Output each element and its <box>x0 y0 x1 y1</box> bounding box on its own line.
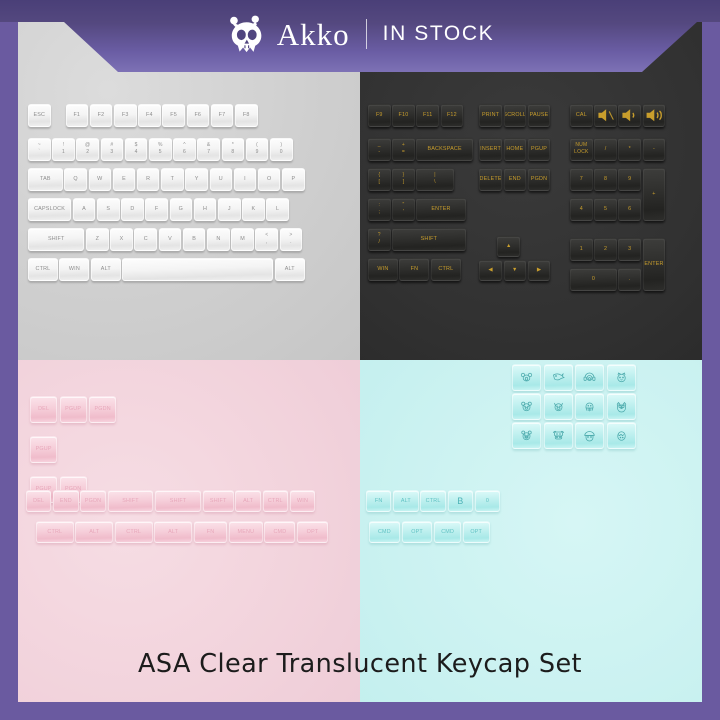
keycap-legend-bottom: 5 <box>159 150 162 156</box>
keycap-legend: END <box>60 498 72 504</box>
keycap-legend-top: > <box>289 233 292 239</box>
keycap-0: )0 <box>270 138 293 161</box>
keycap-legend: T <box>171 176 175 182</box>
keycap-legend: F9 <box>376 112 383 118</box>
keycap-legend: SHIFT <box>170 498 187 504</box>
keycap-blank: ▶ <box>528 260 551 281</box>
keycap-legend: PAUSE <box>530 112 549 118</box>
keycap-f7: F7 <box>211 104 234 127</box>
keycap-e: E <box>113 168 136 191</box>
keycap-shift: SHIFT <box>108 490 154 512</box>
keycap-esc: ESC <box>28 104 51 127</box>
keycap-pgdn: PGDN <box>80 490 105 512</box>
keycap-opt: OPT <box>402 521 433 543</box>
keycap-legend-top: ? <box>378 233 381 239</box>
keycap-koala-face-icon <box>512 364 541 391</box>
keycap-7: 7 <box>570 168 593 191</box>
keycap-legend: SCROLL <box>504 112 527 118</box>
keycap-legend: F3 <box>122 112 129 118</box>
keycap-pig-face-icon <box>544 393 573 420</box>
keycap-legend: END <box>509 176 521 182</box>
keycap-opt: OPT <box>463 521 490 543</box>
keycap-legend: SHIFT <box>421 236 438 242</box>
keycap-blank: ◀ <box>479 260 502 281</box>
keycap-legend: F2 <box>98 112 105 118</box>
keycap-legend: F10 <box>399 112 409 118</box>
keycap-legend: - <box>653 146 655 152</box>
keycap-f11: F11 <box>416 104 439 127</box>
keycap-f5: F5 <box>162 104 185 127</box>
keycap-legend: J <box>228 206 231 212</box>
keycap-legend: ESC <box>33 112 45 118</box>
keycap-legend: PGUP <box>65 406 81 412</box>
keycap-legend-bottom: 2 <box>86 150 89 156</box>
keycap-a: A <box>73 198 96 221</box>
keycap-del: DEL <box>26 490 51 512</box>
keycap-legend: V <box>168 236 172 242</box>
keycap-scroll: SCROLL <box>504 104 527 127</box>
keycap-legend: ENTER <box>431 206 450 212</box>
keycap-legend: CTRL <box>47 529 62 535</box>
keycap-legend: I <box>244 176 246 182</box>
keycap-owl-face-icon <box>607 393 636 420</box>
keycap-pgup: PGUP <box>528 138 551 161</box>
keycap-legend: ◀ <box>488 267 492 273</box>
keycap-legend-top: @ <box>85 143 90 149</box>
keycap-f6: F6 <box>187 104 210 127</box>
keycap-enter: ENTER <box>416 198 465 221</box>
keycap-win: WIN <box>59 258 89 281</box>
keycap-legend: DEL <box>33 498 44 504</box>
keycap-legend-top: " <box>402 203 404 209</box>
keycap-legend-bottom: = <box>402 150 405 156</box>
keycap-legend-top: ~ <box>38 143 41 149</box>
keycap-legend: ALT <box>285 266 295 272</box>
keycap-o: O <box>258 168 281 191</box>
keycap-legend: 2 <box>604 246 607 252</box>
keycap-opt: OPT <box>297 521 328 543</box>
keycap-delete: DELETE <box>479 168 502 191</box>
keycap-volume-mute-icon <box>594 104 617 127</box>
keycap-capslock: CAPSLOCK <box>28 198 71 221</box>
keycap-blank: . <box>618 268 641 291</box>
keycap-blank: {[ <box>368 168 391 191</box>
keycap-blank: - <box>643 138 666 161</box>
keycap-legend: ALT <box>401 498 411 504</box>
keycap-1: 1 <box>570 238 593 261</box>
keycap-legend: SHIFT <box>122 498 139 504</box>
keycap-shift: SHIFT <box>392 228 465 251</box>
keycap-n: N <box>207 228 230 251</box>
keycap-s: S <box>97 198 120 221</box>
keycap-b: B <box>448 490 473 512</box>
keycap-legend-top: % <box>158 143 163 149</box>
keycap-legend: PGDN <box>85 498 101 504</box>
keycap-legend: P <box>291 176 295 182</box>
keycap-cow-face-icon <box>544 422 573 449</box>
keycap-f: F <box>145 198 168 221</box>
keycap-legend: CMD <box>273 529 286 535</box>
keycap-6: 6 <box>618 198 641 221</box>
keycap-blank: _- <box>368 138 391 161</box>
keycap-legend: CTRL <box>268 498 283 504</box>
keycap-legend: PGUP <box>36 446 52 452</box>
keycap-blank: + <box>643 168 666 221</box>
keycap-legend: ENTER <box>644 261 663 267</box>
keycap-legend-top: & <box>207 143 211 149</box>
keycap-x: X <box>110 228 133 251</box>
keycap-legend: 3 <box>628 246 631 252</box>
keycap-blank: / <box>594 138 617 161</box>
keycap-r: R <box>137 168 160 191</box>
keycap-blank: >. <box>280 228 303 251</box>
keycap-alt: ALT <box>91 258 121 281</box>
keycap-legend: CTRL <box>426 498 441 504</box>
keycap-legend-top: ! <box>63 143 65 149</box>
keycap-legend: MENU <box>238 529 255 535</box>
keycap-fn: FN <box>366 490 391 512</box>
keycap-legend: DELETE <box>480 176 502 182</box>
keycap-b: B <box>183 228 206 251</box>
keycap-ctrl: CTRL <box>431 258 461 281</box>
keycap-legend: OPT <box>470 529 482 535</box>
keycap-bird-face-icon <box>544 364 573 391</box>
keycap-blank: ▼ <box>504 260 527 281</box>
keycap-legend-bottom: 1 <box>62 150 65 156</box>
frame-edge-top <box>0 0 720 18</box>
keycap-alt: ALT <box>235 490 260 512</box>
keycap-legend: Z <box>96 236 100 242</box>
keycap-cmd: CMD <box>264 521 295 543</box>
keycap-legend: X <box>120 236 124 242</box>
keycap-f9: F9 <box>368 104 391 127</box>
keycap-legend: 6 <box>628 206 631 212</box>
keycap-cat-face-icon <box>607 364 636 391</box>
keycap-blank: |\ <box>416 168 453 191</box>
keycap-legend: OPT <box>307 529 319 535</box>
keycap-legend: WIN <box>297 498 308 504</box>
keycap-legend: ALT <box>89 529 99 535</box>
keycap-5: %5 <box>149 138 172 161</box>
keycap-legend: SHIFT <box>48 236 65 242</box>
keycap-y: Y <box>185 168 208 191</box>
keycap-legend: G <box>179 206 183 212</box>
keycap-ctrl: CTRL <box>36 521 74 543</box>
keycap-legend: U <box>219 176 223 182</box>
keycap-legend: ▲ <box>506 243 512 249</box>
keycap-legend: Y <box>195 176 199 182</box>
keycap-legend: 1 <box>580 246 583 252</box>
keycap-legend-top: ^ <box>183 143 186 149</box>
keycap-legend: PGDN <box>94 406 110 412</box>
keycap-pig-nose-face-icon <box>512 422 541 449</box>
keycap-alt: ALT <box>393 490 418 512</box>
keycap-blank: ~` <box>28 138 51 161</box>
keycap-legend: C <box>144 236 148 242</box>
keycap-volume-up-icon <box>643 104 666 127</box>
keycap-legend: FN <box>375 498 383 504</box>
keycap-9: 9 <box>618 168 641 191</box>
keycap-legend: ALT <box>243 498 253 504</box>
keycap-legend-bottom: 8 <box>231 150 234 156</box>
keycap-del: DEL <box>30 396 57 423</box>
keycap-0: 0 <box>570 268 617 291</box>
keycap-legend: S <box>106 206 110 212</box>
keycap-legend-bottom: 4 <box>135 150 138 156</box>
keycap-legend-top: NUM <box>575 143 587 149</box>
keycap-alt: ALT <box>275 258 305 281</box>
keycap-legend: 4 <box>580 206 583 212</box>
keycap-legend: L <box>276 206 279 212</box>
keycap-legend: CMD <box>441 529 454 535</box>
keycap-legend: + <box>652 191 655 197</box>
keycap-win: WIN <box>290 490 315 512</box>
keycap-legend-bottom: , <box>266 240 268 246</box>
keycap-m: M <box>231 228 254 251</box>
keycap-legend: 8 <box>604 176 607 182</box>
keycap-legend-bottom: . <box>290 240 292 246</box>
keycap-2: 2 <box>594 238 617 261</box>
keycap-f4: F4 <box>138 104 161 127</box>
keycap-d: D <box>121 198 144 221</box>
keycap-legend: CTRL <box>126 529 141 535</box>
keycap-legend: PGDN <box>531 176 547 182</box>
keycap-legend: D <box>130 206 134 212</box>
keycap-legend: FN <box>207 529 215 535</box>
keycap-volume-down-icon <box>618 104 641 127</box>
keycap-pgup: PGUP <box>60 396 87 423</box>
keycap-legend: INSERT <box>480 146 501 152</box>
keycap-legend: O <box>267 176 271 182</box>
keycap-legend-top: < <box>265 233 268 239</box>
keycap-blank <box>122 258 273 281</box>
keycap-legend-top: * <box>232 143 234 149</box>
keycap-end: END <box>504 168 527 191</box>
keycap-legend: ▶ <box>537 267 541 273</box>
keycap-blank: * <box>618 138 641 161</box>
keycap-legend-bottom: 7 <box>207 150 210 156</box>
keycap-legend-top: _ <box>378 143 381 149</box>
keycap-legend: CAL <box>576 112 587 118</box>
keycap-legend: . <box>629 276 631 282</box>
keycap-legend-top: # <box>110 143 113 149</box>
keycap-legend: ALT <box>168 529 178 535</box>
keycap-legend-bottom: \ <box>434 180 436 186</box>
keycap-f8: F8 <box>235 104 258 127</box>
keycap-legend: R <box>146 176 150 182</box>
keycap-l: L <box>266 198 289 221</box>
keycap-backspace: BACKSPACE <box>416 138 472 161</box>
keycap-legend: N <box>216 236 220 242</box>
keycap-u: U <box>210 168 233 191</box>
keycap-legend: M <box>240 236 245 242</box>
keycap-3: #3 <box>101 138 124 161</box>
keycap-cmd: CMD <box>434 521 461 543</box>
keycap-legend-bottom: ] <box>403 180 405 186</box>
keycap-blank: ▲ <box>497 236 520 257</box>
keycap-blank: :; <box>368 198 391 221</box>
keycap-alt: ALT <box>75 521 113 543</box>
frame-edge-right <box>702 0 720 720</box>
keycap-legend: WIN <box>377 266 388 272</box>
keycap-legend-bottom: 3 <box>110 150 113 156</box>
keycap-legend-bottom: ` <box>38 150 40 156</box>
keycap-7: &7 <box>197 138 220 161</box>
keycap-legend: 7 <box>580 176 583 182</box>
keycap-legend: DEL <box>38 406 49 412</box>
keycap-legend: 5 <box>604 206 607 212</box>
keycap-blank: }] <box>392 168 415 191</box>
keycap-w: W <box>89 168 112 191</box>
keycap-legend: TAB <box>40 176 51 182</box>
keycap-p: P <box>282 168 305 191</box>
keycap-ctrl: CTRL <box>28 258 58 281</box>
keycap-legend-bottom: 6 <box>183 150 186 156</box>
keycap-legend: SHIFT <box>210 498 227 504</box>
keycap-shift: SHIFT <box>203 490 234 512</box>
keycap-legend: Q <box>73 176 77 182</box>
keycap-legend: WIN <box>69 266 80 272</box>
keycap-legend: * <box>629 146 631 152</box>
keycap-legend-bottom: ; <box>379 210 381 216</box>
keycap-bear-face-icon <box>512 393 541 420</box>
keycap-legend: PGUP <box>531 146 547 152</box>
keycap-2: @2 <box>76 138 99 161</box>
keycap-1: !1 <box>52 138 75 161</box>
keycap-legend: F11 <box>423 112 433 118</box>
keycap-blank: ?/ <box>368 228 391 251</box>
keycap-legend: A <box>82 206 86 212</box>
keycap-cmd: CMD <box>369 521 400 543</box>
keycap-legend: CAPSLOCK <box>34 206 65 212</box>
keycap-mushroom-face-icon <box>575 422 604 449</box>
keycap-fn: FN <box>194 521 228 543</box>
keycap-legend-bottom: / <box>379 240 381 246</box>
keycap-legend: CMD <box>378 529 391 535</box>
keycap-5: 5 <box>594 198 617 221</box>
keycap-legend: PRINT <box>482 112 499 118</box>
keycap-legend-top: } <box>403 173 405 179</box>
keycap-legend-bottom: 0 <box>280 150 283 156</box>
keycap-4: $4 <box>125 138 148 161</box>
keycap-win: WIN <box>368 258 398 281</box>
keycap-print: PRINT <box>479 104 502 127</box>
keycap-h: H <box>194 198 217 221</box>
keycap-blank: <, <box>255 228 278 251</box>
keycap-home: HOME <box>504 138 527 161</box>
cyan-keycaps-panel: FNALTCTRLB0CMDOPTCMDOPT <box>360 360 720 720</box>
keycap-6: ^6 <box>173 138 196 161</box>
keycap-koala-headphones-icon <box>575 364 604 391</box>
keycap-legend: 0 <box>486 498 489 504</box>
keycap-legend-bottom: [ <box>379 180 381 186</box>
keycap-legend: B <box>192 236 196 242</box>
keycap-legend-top: { <box>378 173 380 179</box>
keycap-v: V <box>159 228 182 251</box>
keycap-f2: F2 <box>90 104 113 127</box>
pink-keycaps-panel: DELPGUPPGDNPGUPPGUPPGDNDELENDPGDNSHIFTSH… <box>0 360 360 720</box>
keycap-tab: TAB <box>28 168 63 191</box>
keycap-shift: SHIFT <box>155 490 201 512</box>
keycap-legend: B <box>457 496 463 506</box>
keycap-pgup: PGUP <box>30 436 57 463</box>
keycap-legend: F6 <box>194 112 201 118</box>
keycap-legend: / <box>605 146 607 152</box>
keycap-9: (9 <box>246 138 269 161</box>
keycap-legend-top: ) <box>280 143 282 149</box>
keycap-q: Q <box>64 168 87 191</box>
keycap-f10: F10 <box>392 104 415 127</box>
keycap-chick-hatching-icon <box>607 422 636 449</box>
keycap-legend: CTRL <box>35 266 50 272</box>
keycap-octopus-icon <box>575 393 604 420</box>
keycap-pgdn: PGDN <box>528 168 551 191</box>
product-image-canvas: ESCF1F2F3F4F5F6F7F8~`!1@2#3$4%5^6&7*8(9)… <box>0 0 720 720</box>
keycap-menu: MENU <box>229 521 263 543</box>
keycap-f1: F1 <box>66 104 89 127</box>
keycap-cal: CAL <box>570 104 593 127</box>
keycap-legend: H <box>203 206 207 212</box>
keycap-f12: F12 <box>441 104 464 127</box>
keycap-8: 8 <box>594 168 617 191</box>
keycap-legend-bottom: 9 <box>256 150 259 156</box>
keycap-legend: HOME <box>506 146 523 152</box>
keycap-0: 0 <box>475 490 500 512</box>
keycap-legend: 9 <box>628 176 631 182</box>
keycap-ctrl: CTRL <box>420 490 445 512</box>
white-keycaps-panel: ESCF1F2F3F4F5F6F7F8~`!1@2#3$4%5^6&7*8(9)… <box>0 0 360 360</box>
keycap-legend-top: + <box>402 143 405 149</box>
keycap-legend: F5 <box>170 112 177 118</box>
keycap-shift: SHIFT <box>28 228 84 251</box>
keycap-legend: W <box>97 176 102 182</box>
keycap-legend: ALT <box>101 266 111 272</box>
keycap-ctrl: CTRL <box>115 521 153 543</box>
keycap-end: END <box>53 490 78 512</box>
keycap-legend: BACKSPACE <box>427 146 461 152</box>
keycap-g: G <box>170 198 193 221</box>
keycap-ctrl: CTRL <box>263 490 288 512</box>
keycap-legend-top: : <box>379 203 381 209</box>
frame-edge-left <box>0 0 18 720</box>
keycap-pause: PAUSE <box>528 104 551 127</box>
keycap-i: I <box>234 168 257 191</box>
keycap-blank: += <box>392 138 415 161</box>
keycap-t: T <box>161 168 184 191</box>
keycap-num-lock: NUMLOCK <box>570 138 593 161</box>
keycap-4: 4 <box>570 198 593 221</box>
keycap-legend-bottom: - <box>378 150 380 156</box>
keycap-legend: ▼ <box>512 267 518 273</box>
keycap-f3: F3 <box>114 104 137 127</box>
black-keycaps-panel: F9F10F11F12PRINTSCROLLPAUSECAL_-+=BACKSP… <box>360 0 720 360</box>
keycap-fn: FN <box>399 258 429 281</box>
keycap-legend: CTRL <box>438 266 453 272</box>
keycap-legend: F8 <box>243 112 250 118</box>
keycap-8: *8 <box>222 138 245 161</box>
keycap-enter: ENTER <box>643 238 666 291</box>
keycap-legend-bottom: ' <box>403 210 404 216</box>
keycap-pgdn: PGDN <box>89 396 116 423</box>
keycap-legend-top: ( <box>256 143 258 149</box>
keycap-c: C <box>134 228 157 251</box>
keycap-legend-top: $ <box>135 143 138 149</box>
frame-edge-bottom <box>0 702 720 720</box>
keycap-3: 3 <box>618 238 641 261</box>
keycap-legend: OPT <box>411 529 423 535</box>
keycap-blank: "' <box>392 198 415 221</box>
keycap-j: J <box>218 198 241 221</box>
